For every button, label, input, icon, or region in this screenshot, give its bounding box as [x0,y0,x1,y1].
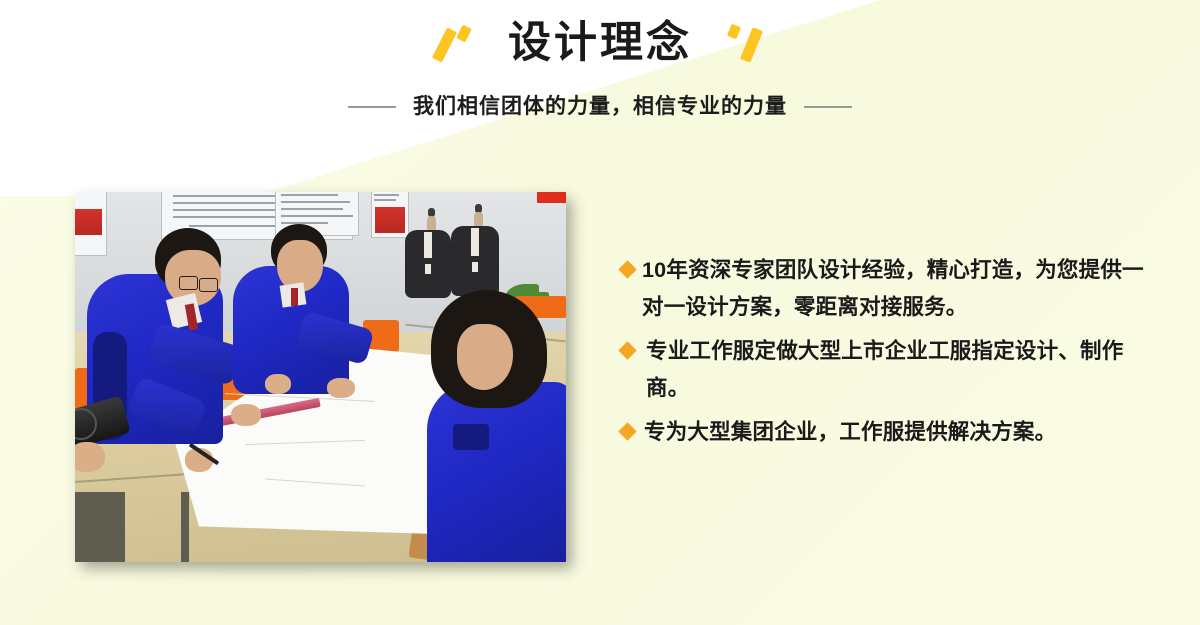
page-title: 设计理念 [508,22,692,65]
subtitle-rule-right-icon [804,106,852,108]
team-photo [75,192,566,562]
diamond-bullet-icon [618,341,637,360]
photo-red-tag [537,192,566,203]
photo-table-shadow [75,492,125,562]
team-photo-content [75,192,566,562]
slash-decoration-left-icon [434,20,480,66]
banner-header: 设计理念 我们相信团体的力量，相信专业的力量 [0,0,1200,150]
diamond-bullet-icon [618,260,637,279]
photo-poster-left [75,192,107,256]
slash-decoration-right-icon [720,20,766,66]
feature-list: 10年资深专家团队设计经验，精心打造，为您提供一对一设计方案，零距离对接服务。 … [618,252,1163,458]
feature-item: 专业工作服定做大型上市企业工服指定设计、制作商。 [618,333,1163,407]
design-concept-banner: 设计理念 我们相信团体的力量，相信专业的力量 [0,0,1200,625]
photo-camera-hand [75,442,105,472]
feature-item-text: 10年资深专家团队设计经验，精心打造，为您提供一对一设计方案，零距离对接服务。 [642,252,1163,326]
diamond-bullet-icon [618,422,637,441]
page-subtitle: 我们相信团体的力量，相信专业的力量 [413,96,787,117]
feature-item: 10年资深专家团队设计经验，精心打造，为您提供一对一设计方案，零距离对接服务。 [618,252,1163,326]
feature-item-text: 专为大型集团企业，工作服提供解决方案。 [644,414,1056,451]
feature-item-text: 专业工作服定做大型上市企业工服指定设计、制作商。 [646,333,1163,407]
title-row: 设计理念 [0,20,1200,66]
subtitle-rule-left-icon [348,106,396,108]
feature-item: 专为大型集团企业，工作服提供解决方案。 [618,414,1163,451]
subtitle-row: 我们相信团体的力量，相信专业的力量 [0,96,1200,117]
photo-poster-red [371,192,409,238]
